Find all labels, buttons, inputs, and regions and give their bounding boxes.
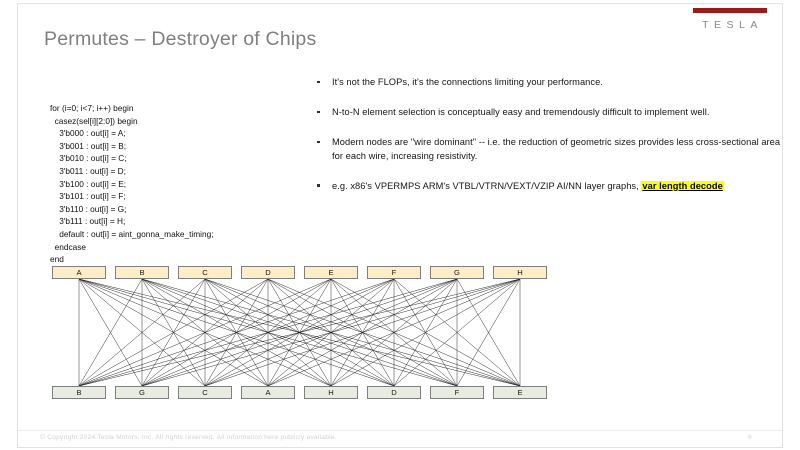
bullet-dot-icon [317,184,320,187]
crossbar-bottom-node[interactable]: B [52,386,106,399]
list-item: N-to-N element selection is conceptually… [315,106,790,120]
footer-divider [18,430,782,431]
bullet-text: N-to-N element selection is conceptually… [332,107,709,117]
crossbar-top-node[interactable]: D [241,266,295,279]
crossbar-bottom-node[interactable]: D [367,386,421,399]
crossbar-top-node[interactable]: B [115,266,169,279]
slide-border-bottom [17,447,783,448]
bullet-dot-icon [317,111,320,114]
crossbar-bottom-node[interactable]: C [178,386,232,399]
crossbar-bottom-node[interactable]: F [430,386,484,399]
page-title: Permutes – Destroyer of Chips [44,28,316,51]
tesla-wordmark: TESLA [690,19,770,31]
crossbar-diagram: A B C D E F G H B G C A H D F E [46,262,556,412]
crossbar-top-node[interactable]: H [493,266,547,279]
crossbar-bottom-node[interactable]: A [241,386,295,399]
page-number: 6 [748,434,752,441]
crossbar-top-node[interactable]: G [430,266,484,279]
tesla-logo: TESLA [690,8,770,31]
highlighted-text: var length decode [641,181,723,191]
list-item: It's not the FLOPs, it's the connections… [315,76,790,90]
bullet-text: e.g. x86's VPERMPS ARM's VTBL/VTRN/VEXT/… [332,181,641,191]
footer-copyright: © Copyright 2024 Tesla Motors, Inc. All … [40,434,337,441]
bullet-dot-icon [317,141,320,144]
slide: TESLA Permutes – Destroyer of Chips for … [0,0,800,450]
crossbar-bottom-node[interactable]: E [493,386,547,399]
slide-border-right [782,3,783,447]
bullet-text: It's not the FLOPs, it's the connections… [332,77,603,87]
slide-border-left [17,3,18,447]
crossbar-top-node[interactable]: A [52,266,106,279]
slide-border-top [17,3,783,4]
crossbar-top-node[interactable]: E [304,266,358,279]
crossbar-top-node[interactable]: F [367,266,421,279]
bullet-list: It's not the FLOPs, it's the connections… [315,76,790,210]
crossbar-top-node[interactable]: C [178,266,232,279]
bullet-text: Modern nodes are "wire dominant" -- i.e.… [332,137,780,161]
list-item: Modern nodes are "wire dominant" -- i.e.… [315,136,790,163]
crossbar-bottom-node[interactable]: G [115,386,169,399]
bullet-dot-icon [317,81,320,84]
crossbar-bottom-node[interactable]: H [304,386,358,399]
code-block: for (i=0; i<7; i++) begin casez(sel[i][2… [50,102,214,266]
list-item: e.g. x86's VPERMPS ARM's VTBL/VTRN/VEXT/… [315,180,790,194]
tesla-logo-bar [693,8,767,13]
